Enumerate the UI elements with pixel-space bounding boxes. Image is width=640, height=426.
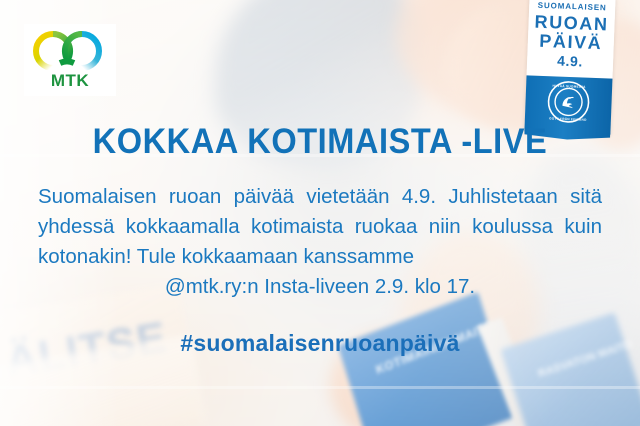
- badge-line-small: SUOMALAISEN: [533, 2, 611, 13]
- badge-paper-panel: SUOMALAISEN RUOAN PÄIVÄ 4.9.: [527, 0, 616, 78]
- body-copy: Suomalaisen ruoan päivää vietetään 4.9. …: [38, 182, 602, 302]
- body-line-1: Suomalaisen ruoan päivää vietetään 4.9. …: [38, 185, 558, 208]
- suomalaisen-ruoan-paiva-badge: SUOMALAISEN RUOAN PÄIVÄ 4.9. HYVÄÄ SUOME…: [524, 0, 615, 134]
- body-line-4: @mtk.ry:n Insta-liveen 2.9. klo 17.: [38, 272, 602, 302]
- photo-seam-bottom: [0, 386, 640, 389]
- svg-text:HYVÄÄ SUOMESTA: HYVÄÄ SUOMESTA: [552, 84, 586, 89]
- mtk-interlocking-rings-logo-icon: [33, 31, 107, 71]
- campaign-hashtag: #suomalaisenruoanpäivä: [0, 330, 640, 357]
- mtk-logo-wordmark: MTK: [51, 72, 89, 89]
- badge-line-2: PÄIVÄ: [532, 31, 611, 53]
- page-title: KOKKAA KOTIMAISTA -LIVE: [22, 124, 617, 161]
- promotional-poster: ÄLITSE KOTIMAINEN MAITO RASVATON MAITO: [0, 0, 640, 426]
- badge-date: 4.9.: [531, 51, 610, 71]
- swan-seal-icon: HYVÄÄ SUOMESTA GOTT FRÅN FINLAND: [544, 78, 592, 131]
- mtk-logo: MTK: [24, 24, 116, 96]
